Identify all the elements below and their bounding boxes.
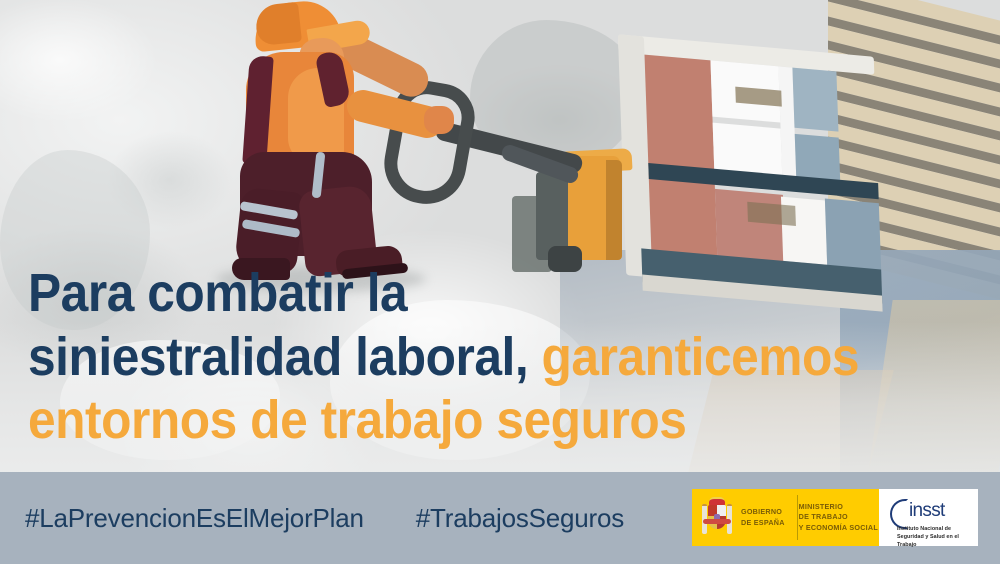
- insst-logo: insst Instituto Nacional de Seguridad y …: [879, 489, 978, 546]
- headline-line-3: entornos de trabajo seguros: [28, 389, 893, 453]
- worker-cap-shade: [254, 2, 302, 46]
- logo-block: GOBIERNO DE ESPAÑA MINISTERIO DE TRABAJO…: [692, 489, 978, 546]
- gobierno-de-espana-logo: GOBIERNO DE ESPAÑA MINISTERIO DE TRABAJO…: [692, 489, 879, 546]
- spain-coat-of-arms-icon: [702, 497, 732, 539]
- worker-hand: [424, 106, 454, 134]
- headline-line-2-orange: garanticemos: [528, 327, 859, 387]
- crate: [624, 41, 878, 291]
- insst-wordmark: insst: [909, 499, 945, 522]
- logo-divider: [797, 495, 798, 540]
- gobierno-text: GOBIERNO DE ESPAÑA: [741, 507, 785, 527]
- pallet-jack-body-shadow: [606, 160, 622, 260]
- headline-line-2: siniestralidad laboral, garanticemos: [28, 326, 893, 390]
- headline-line-1: Para combatir la: [28, 262, 893, 326]
- hashtag-trabajos-seguros: #TrabajosSeguros: [416, 503, 624, 534]
- ribbon-icon: [703, 519, 731, 524]
- gobierno-line-1: GOBIERNO: [741, 507, 785, 517]
- ministerio-line-3: Y ECONOMÍA SOCIAL: [799, 523, 878, 533]
- hashtag-prevencion: #LaPrevencionEsElMejorPlan: [25, 503, 364, 534]
- ministerio-line-2: DE TRABAJO: [799, 512, 878, 522]
- crate-panel-red: [645, 55, 718, 258]
- worker-figure: [196, 0, 446, 285]
- crate-stain: [747, 202, 796, 226]
- crate-panel-blue: [792, 68, 838, 132]
- headline-line-2-navy: siniestralidad laboral,: [28, 327, 528, 387]
- insst-subtitle: Instituto Nacional de Seguridad y Salud …: [897, 525, 977, 549]
- hashtag-group: #LaPrevencionEsElMejorPlan #TrabajosSegu…: [25, 472, 624, 564]
- insst-subtitle-line-2: Seguridad y Salud en el Trabajo: [897, 533, 977, 549]
- headline: Para combatir la siniestralidad laboral,…: [28, 262, 893, 453]
- shield-icon: [708, 505, 726, 529]
- campaign-poster: Para combatir la siniestralidad laboral,…: [0, 0, 1000, 564]
- insst-subtitle-line-1: Instituto Nacional de: [897, 525, 977, 533]
- gobierno-line-2: DE ESPAÑA: [741, 518, 785, 528]
- ministerio-text: MINISTERIO DE TRABAJO Y ECONOMÍA SOCIAL: [799, 502, 878, 533]
- ministerio-line-1: MINISTERIO: [799, 502, 878, 512]
